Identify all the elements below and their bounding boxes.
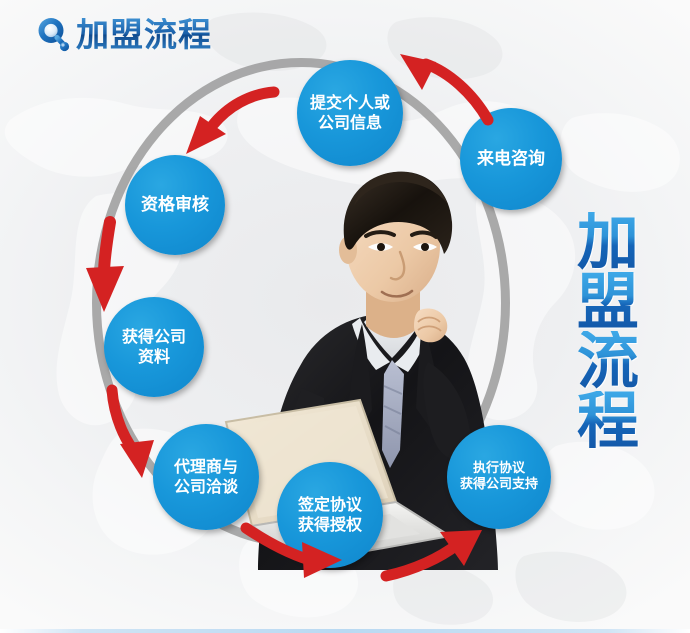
page-title: 加盟流程: [76, 18, 212, 51]
flow-node-submit-info[interactable]: 提交个人或 公司信息: [297, 60, 403, 166]
flow-node-company-materials[interactable]: 获得公司 资料: [104, 297, 204, 397]
flow-node-qualification-review[interactable]: 资格审核: [125, 155, 225, 255]
flow-node-label: 来电咨询: [477, 149, 545, 170]
flow-node-call-consult[interactable]: 来电咨询: [460, 108, 562, 210]
vertical-headline-char: 程: [577, 391, 639, 451]
page-header: 加盟流程: [36, 16, 212, 52]
magnifier-q-icon: [36, 16, 70, 52]
vertical-headline-char: 盟: [577, 272, 639, 332]
flow-node-sign-agreement[interactable]: 签定协议 获得授权: [277, 462, 383, 568]
flow-node-label: 资格审核: [141, 195, 209, 216]
flow-node-label: 代理商与 公司洽谈: [174, 457, 238, 496]
flow-node-label: 获得公司 资料: [122, 327, 186, 366]
flow-node-execute-agreement[interactable]: 执行协议 获得公司支持: [447, 425, 551, 529]
vertical-headline-char: 加: [577, 212, 639, 272]
vertical-headline: 加 盟 流 程: [554, 212, 662, 450]
promo-banner: 提交个人或 公司信息 来电咨询 资格审核 获得公司 资料 代理商与 公司洽谈 签…: [0, 0, 690, 633]
flow-node-agent-negotiation[interactable]: 代理商与 公司洽谈: [153, 424, 259, 530]
flow-node-label: 执行协议 获得公司支持: [460, 461, 538, 493]
flow-node-label: 提交个人或 公司信息: [310, 93, 390, 132]
bottom-accent-rule: [0, 629, 690, 633]
vertical-headline-char: 流: [577, 331, 639, 391]
flow-node-label: 签定协议 获得授权: [298, 495, 362, 534]
